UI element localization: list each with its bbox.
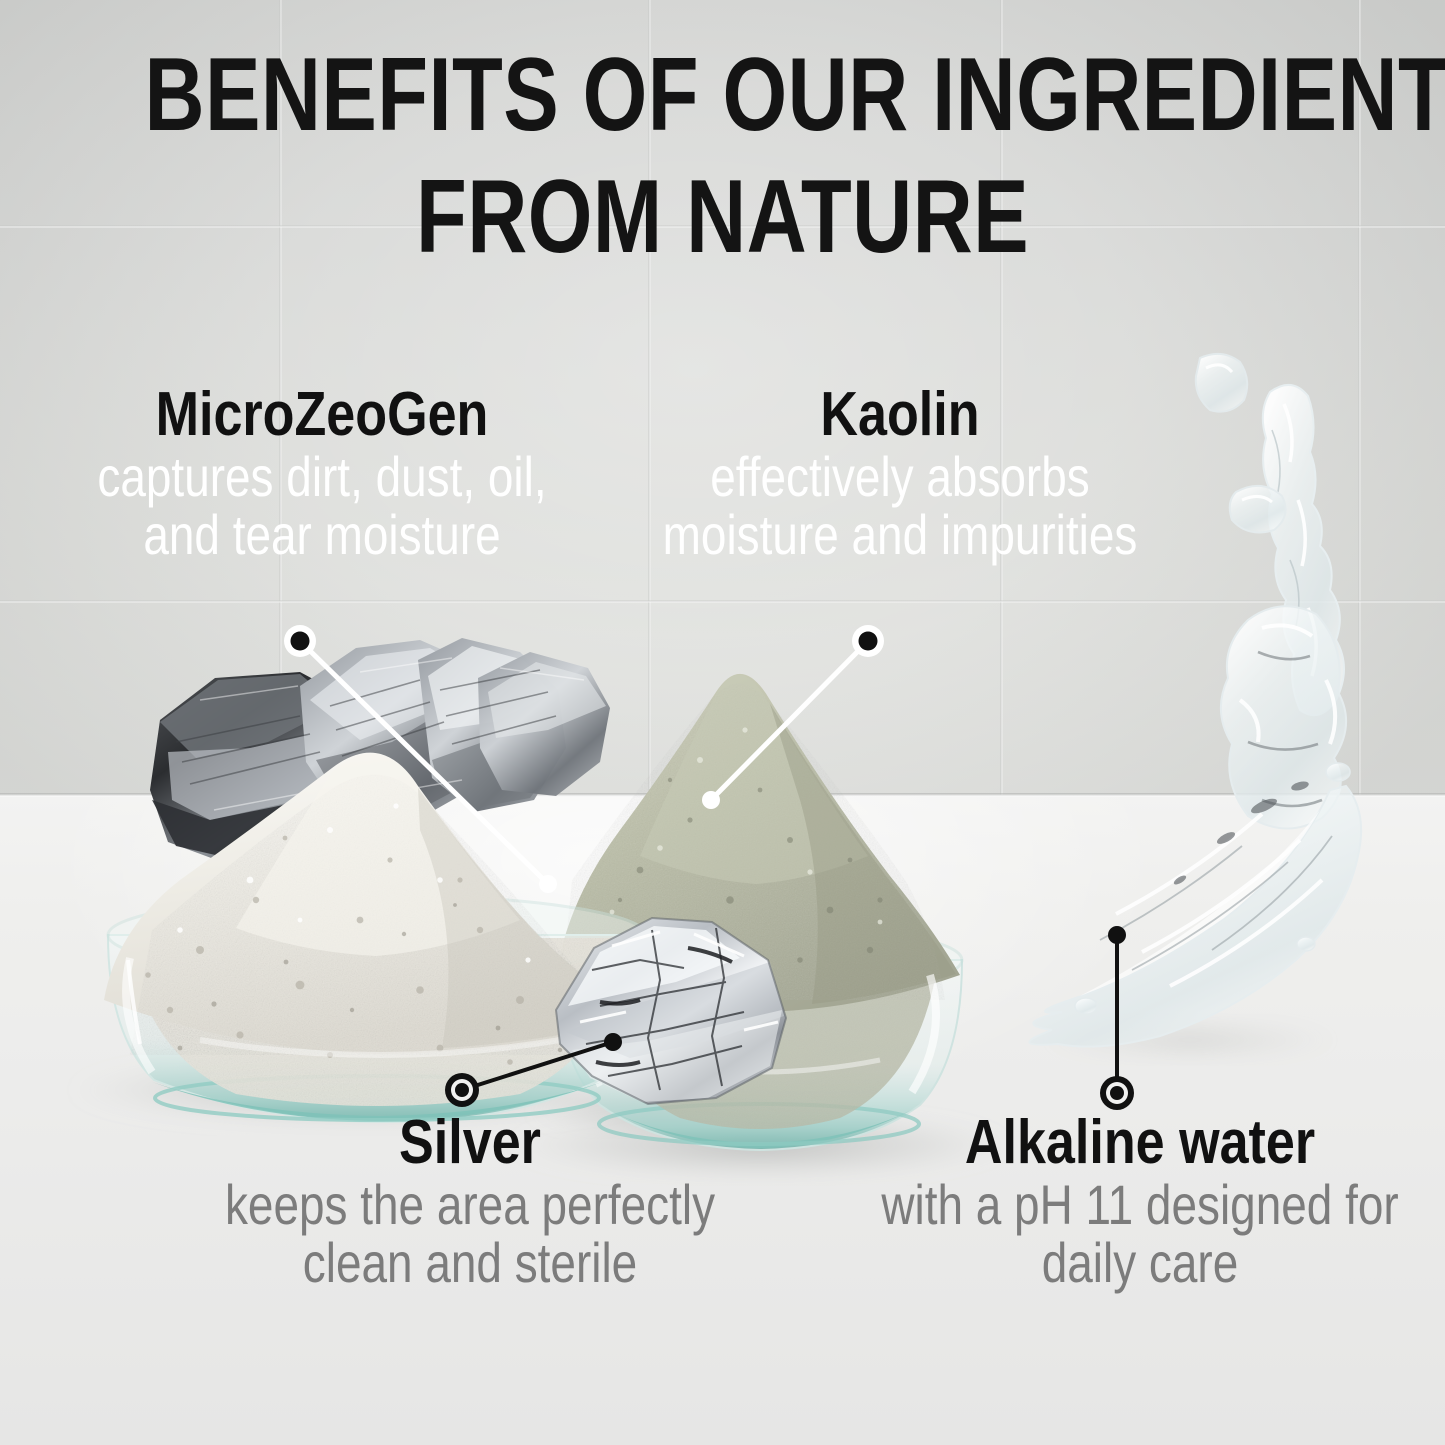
description-line: captures dirt, dust, oil, (76, 448, 568, 506)
ingredient-name: Alkaline water (863, 1110, 1417, 1176)
description-line: moisture and impurities (654, 506, 1146, 564)
title-line-1: BENEFITS OF OUR INGREDIENTS (145, 34, 1301, 156)
description-line: with a pH 11 designed for (869, 1176, 1410, 1234)
description-line: daily care (869, 1234, 1410, 1292)
ingredient-description: keeps the area perfectly clean and steri… (199, 1176, 740, 1292)
ingredient-label-kaolin: Kaolin effectively absorbs moisture and … (600, 382, 1200, 564)
description-line: effectively absorbs (654, 448, 1146, 506)
ingredient-name: Silver (193, 1110, 747, 1176)
infographic-canvas: BENEFITS OF OUR INGREDIENTS FROM NATURE (0, 0, 1445, 1445)
title-line-2: FROM NATURE (145, 156, 1301, 278)
ingredient-description: with a pH 11 designed for daily care (869, 1176, 1410, 1292)
description-line: keeps the area perfectly (199, 1176, 740, 1234)
description-line: and tear moisture (76, 506, 568, 564)
ingredient-description: effectively absorbs moisture and impurit… (654, 448, 1146, 564)
ingredient-label-microzeogen: MicroZeoGen captures dirt, dust, oil, an… (22, 382, 622, 564)
ingredient-name: MicroZeoGen (70, 382, 574, 448)
ingredient-label-alkaline-water: Alkaline water with a pH 11 designed for… (810, 1110, 1445, 1292)
ingredient-name: Kaolin (648, 382, 1152, 448)
description-line: clean and sterile (199, 1234, 740, 1292)
ingredient-label-silver: Silver keeps the area perfectly clean an… (140, 1110, 800, 1292)
ingredient-description: captures dirt, dust, oil, and tear moist… (76, 448, 568, 564)
page-title: BENEFITS OF OUR INGREDIENTS FROM NATURE (145, 34, 1301, 278)
